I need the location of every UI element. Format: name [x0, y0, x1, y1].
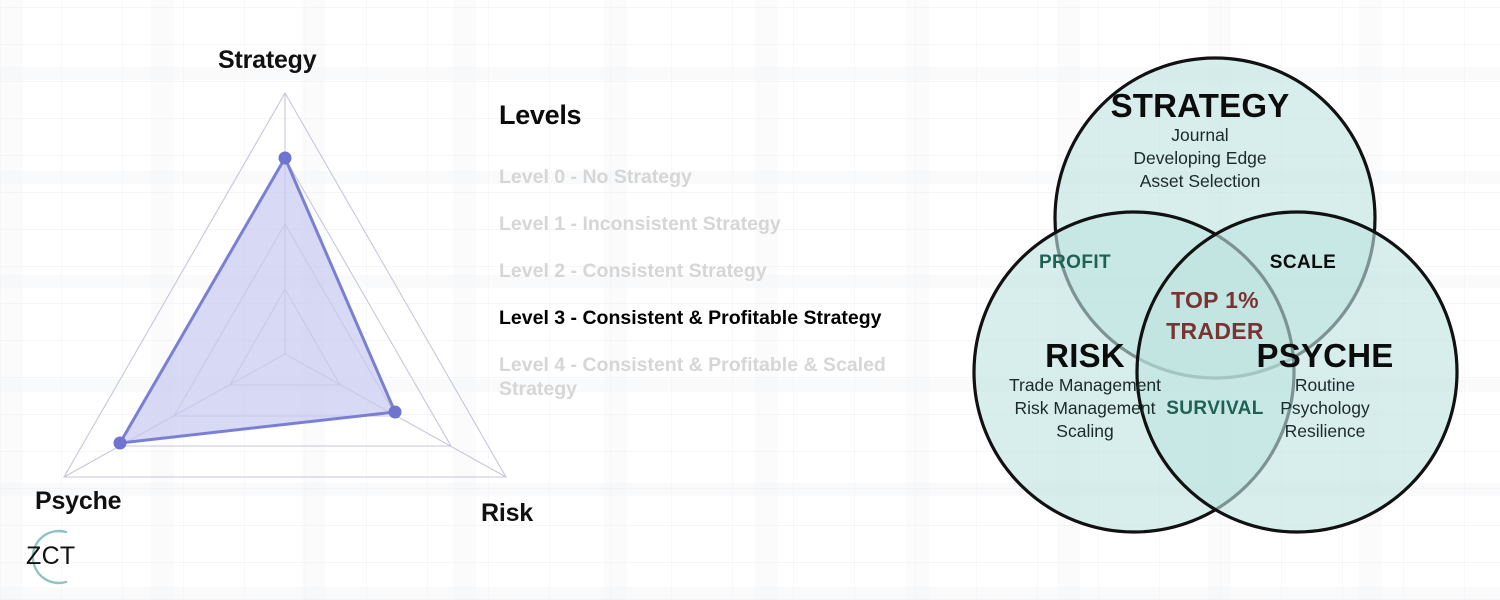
venn-item-strategy-0: Journal [1085, 124, 1315, 147]
radar-axis-label-strategy: Strategy [218, 46, 316, 75]
radar-axis-label-risk: Risk [481, 499, 533, 528]
venn-overlap-survival: SURVIVAL [1100, 398, 1330, 420]
logo-text: ZCT [26, 542, 76, 571]
venn-item-strategy-2: Asset Selection [1085, 170, 1315, 193]
venn-block-psyche: PSYCHE Routine Psychology Resilience [1210, 338, 1440, 443]
radar-point-psyche [114, 437, 127, 450]
radar-chart-panel: Strategy Risk Psyche [0, 0, 520, 600]
venn-item-strategy-1: Developing Edge [1085, 147, 1315, 170]
venn-center-label: TOP 1% TRADER [1100, 285, 1330, 347]
logo[interactable]: ZCT [8, 522, 104, 592]
venn-item-risk-0: Trade Management [970, 374, 1200, 397]
radar-point-risk [389, 406, 402, 419]
levels-title: Levels [499, 100, 969, 131]
level-item-3[interactable]: Level 3 - Consistent & Profitable Strate… [499, 306, 939, 330]
level-item-2[interactable]: Level 2 - Consistent Strategy [499, 259, 939, 283]
level-item-0[interactable]: Level 0 - No Strategy [499, 165, 939, 189]
level-item-1[interactable]: Level 1 - Inconsistent Strategy [499, 212, 939, 236]
venn-overlap-profit: PROFIT [960, 252, 1190, 274]
radar-point-strategy [279, 152, 292, 165]
venn-overlap-scale: SCALE [1188, 252, 1418, 274]
venn-center-line-2: TRADER [1100, 316, 1330, 347]
radar-axis-label-psyche: Psyche [35, 487, 121, 516]
levels-panel: Levels Level 0 - No Strategy Level 1 - I… [499, 100, 969, 424]
venn-diagram-panel: STRATEGY Journal Developing Edge Asset S… [930, 0, 1500, 600]
venn-block-risk: RISK Trade Management Risk Management Sc… [970, 338, 1200, 443]
venn-item-risk-2: Scaling [970, 420, 1200, 443]
radar-data-polygon [120, 158, 395, 443]
venn-block-strategy: STRATEGY Journal Developing Edge Asset S… [1085, 88, 1315, 193]
venn-item-psyche-2: Resilience [1210, 420, 1440, 443]
venn-center-line-1: TOP 1% [1100, 285, 1330, 316]
venn-item-psyche-0: Routine [1210, 374, 1440, 397]
level-item-4[interactable]: Level 4 - Consistent & Profitable & Scal… [499, 353, 939, 401]
venn-title-strategy: STRATEGY [1085, 88, 1315, 124]
